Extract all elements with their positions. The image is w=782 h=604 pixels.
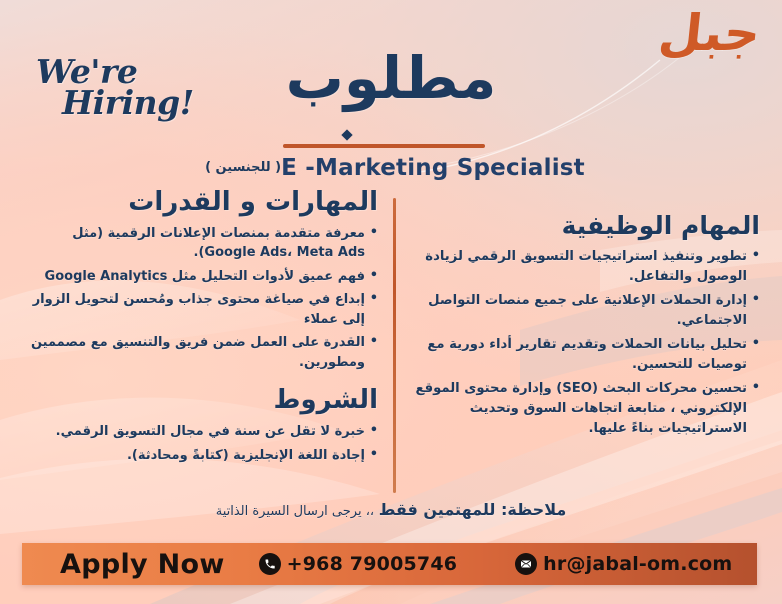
list-item: إبداع في صياغة محتوى جذاب ومُحسن لتحويل …: [28, 290, 378, 329]
apply-now-label: Apply Now: [60, 549, 225, 580]
email-address: hr@jabal-om.com: [543, 553, 732, 575]
list-item: فهم عميق لأدوات التحليل مثل Google Analy…: [28, 267, 378, 287]
list-item: إجادة اللغة الإنجليزية (كتابةً ومحادثة).: [28, 446, 378, 466]
role-title: E -Marketing Specialist: [281, 155, 585, 181]
skills-heading: المهارات و القدرات: [28, 188, 378, 218]
role-gender-note: ( للجنسين ): [205, 160, 281, 175]
conditions-list: خبرة لا تقل عن سنة في مجال التسويق الرقم…: [28, 422, 378, 465]
headline-matloub: مطلوب: [0, 44, 782, 112]
job-poster: We're Hiring! جبل مطلوب ( للجنسين )E -Ma…: [0, 0, 782, 604]
phone-icon: [259, 553, 281, 575]
headline-underline: [283, 144, 485, 148]
phone-contact[interactable]: +968 79005746: [259, 553, 458, 575]
skills-column: المهارات و القدرات معرفة متقدمة بمنصات ا…: [28, 188, 378, 469]
email-contact[interactable]: hr@jabal-om.com: [515, 553, 732, 575]
list-item: معرفة متقدمة بمنصات الإعلانات الرقمية (م…: [28, 224, 378, 263]
note-soft: ،، يرجى ارسال السيرة الذاتية: [216, 504, 374, 519]
phone-number: +968 79005746: [287, 553, 458, 575]
conditions-heading: الشروط: [28, 386, 378, 416]
list-item: تحليل بيانات الحملات وتقديم تقارير أداء …: [408, 335, 760, 375]
duties-list: تطوير وتنفيذ استراتيجيات التسويق الرقمي …: [408, 247, 760, 440]
envelope-icon: [515, 553, 537, 575]
list-item: تحسين محركات البحث (SEO) وإدارة محتوى ال…: [408, 379, 760, 439]
contact-footer-bar: Apply Now +968 79005746 hr@jabal-om.com: [22, 543, 757, 585]
column-divider: [393, 198, 396, 493]
application-note: ملاحظة: للمهتمين فقط ،، يرجى ارسال السير…: [0, 500, 782, 519]
role-line: ( للجنسين )E -Marketing Specialist: [0, 155, 782, 181]
duties-heading: المهام الوظيفية: [408, 212, 760, 241]
diamond-accent-icon: [341, 129, 352, 140]
skills-list: معرفة متقدمة بمنصات الإعلانات الرقمية (م…: [28, 224, 378, 373]
list-item: القدرة على العمل ضمن فريق والتنسيق مع مص…: [28, 333, 378, 372]
list-item: تطوير وتنفيذ استراتيجيات التسويق الرقمي …: [408, 247, 760, 287]
list-item: خبرة لا تقل عن سنة في مجال التسويق الرقم…: [28, 422, 378, 442]
note-strong: ملاحظة: للمهتمين فقط: [379, 500, 567, 519]
list-item: إدارة الحملات الإعلانية على جميع منصات ا…: [408, 291, 760, 331]
duties-column: المهام الوظيفية تطوير وتنفيذ استراتيجيات…: [408, 212, 760, 443]
